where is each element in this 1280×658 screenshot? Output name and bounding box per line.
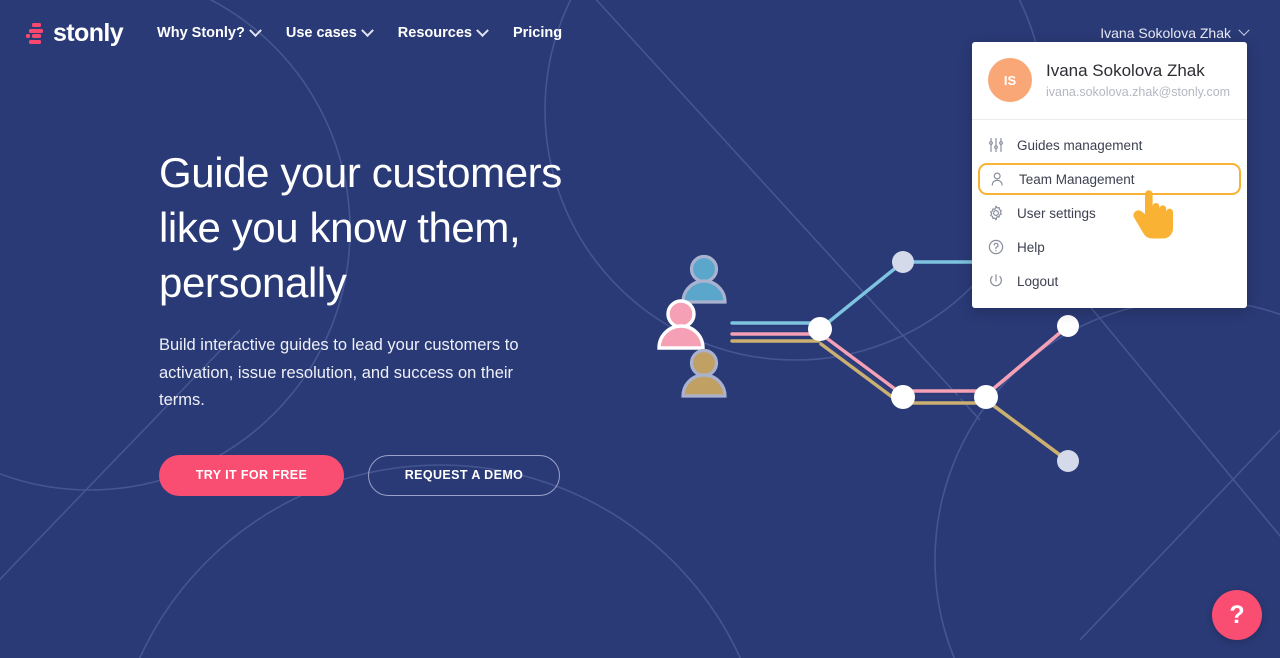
nav-item-pricing[interactable]: Pricing bbox=[513, 25, 562, 41]
menu-item-help[interactable]: Help bbox=[972, 230, 1247, 264]
user-icon bbox=[990, 171, 1006, 187]
chevron-down-icon bbox=[249, 24, 262, 37]
sliders-icon bbox=[988, 137, 1004, 153]
stonly-stacked-bars-icon bbox=[26, 22, 46, 44]
menu-item-user-settings[interactable]: User settings bbox=[972, 196, 1247, 230]
nav-item-use-cases[interactable]: Use cases bbox=[286, 25, 372, 41]
dropdown-menu-list: Guides management Team Management bbox=[972, 120, 1247, 308]
dropdown-user-name: Ivana Sokolova Zhak bbox=[1046, 61, 1230, 81]
dropdown-user-info: Ivana Sokolova Zhak ivana.sokolova.zhak@… bbox=[1046, 61, 1230, 99]
menu-item-logout[interactable]: Logout bbox=[972, 264, 1247, 298]
menu-item-guides-management[interactable]: Guides management bbox=[972, 128, 1247, 162]
request-a-demo-button[interactable]: REQUEST A DEMO bbox=[368, 455, 560, 496]
logo-wordmark: stonly bbox=[53, 21, 123, 46]
question-circle-icon bbox=[988, 239, 1004, 255]
chevron-down-icon bbox=[361, 24, 374, 37]
chevron-down-icon bbox=[1238, 25, 1249, 36]
try-it-for-free-button[interactable]: TRY IT FOR FREE bbox=[159, 455, 344, 496]
user-dropdown-menu: IS Ivana Sokolova Zhak ivana.sokolova.zh… bbox=[972, 42, 1247, 308]
menu-item-label: Logout bbox=[1017, 274, 1058, 289]
nav-label: Pricing bbox=[513, 25, 562, 41]
chevron-down-icon bbox=[476, 24, 489, 37]
nav-label: Resources bbox=[398, 25, 472, 41]
hero-cta-row: TRY IT FOR FREE REQUEST A DEMO bbox=[159, 455, 679, 496]
power-icon bbox=[988, 273, 1004, 289]
nav-links: Why Stonly? Use cases Resources Pricing bbox=[157, 25, 562, 41]
dropdown-user-header: IS Ivana Sokolova Zhak ivana.sokolova.zh… bbox=[972, 42, 1247, 119]
avatar-gold bbox=[683, 351, 725, 397]
question-mark-icon: ? bbox=[1229, 601, 1244, 630]
avatar-blue bbox=[683, 257, 725, 303]
user-menu-label: Ivana Sokolova Zhak bbox=[1100, 25, 1231, 41]
stonly-logo[interactable]: stonly bbox=[26, 21, 123, 46]
hero-heading-line-3: personally bbox=[159, 259, 346, 306]
gear-icon bbox=[988, 205, 1004, 221]
page-title: Guide your customers like you know them,… bbox=[159, 145, 679, 310]
avatar: IS bbox=[988, 58, 1032, 102]
nav-label: Why Stonly? bbox=[157, 25, 245, 41]
hero-heading-line-1: Guide your customers bbox=[159, 149, 562, 196]
dropdown-user-email: ivana.sokolova.zhak@stonly.com bbox=[1046, 85, 1230, 99]
hero-heading-line-2: like you know them, bbox=[159, 204, 520, 251]
hero-subtext: Build interactive guides to lead your cu… bbox=[159, 332, 534, 415]
nav-item-resources[interactable]: Resources bbox=[398, 25, 487, 41]
menu-item-label: User settings bbox=[1017, 206, 1096, 221]
hero-section: Guide your customers like you know them,… bbox=[159, 145, 679, 496]
menu-item-label: Help bbox=[1017, 240, 1045, 255]
menu-item-label: Guides management bbox=[1017, 138, 1142, 153]
help-floating-button[interactable]: ? bbox=[1212, 590, 1262, 640]
landing-page: stonly Why Stonly? Use cases Resources P… bbox=[0, 0, 1280, 658]
nav-item-why-stonly[interactable]: Why Stonly? bbox=[157, 25, 260, 41]
menu-item-label: Team Management bbox=[1019, 172, 1135, 187]
menu-item-team-management[interactable]: Team Management bbox=[978, 163, 1241, 195]
nav-label: Use cases bbox=[286, 25, 357, 41]
user-menu-trigger[interactable]: Ivana Sokolova Zhak bbox=[1100, 25, 1262, 41]
